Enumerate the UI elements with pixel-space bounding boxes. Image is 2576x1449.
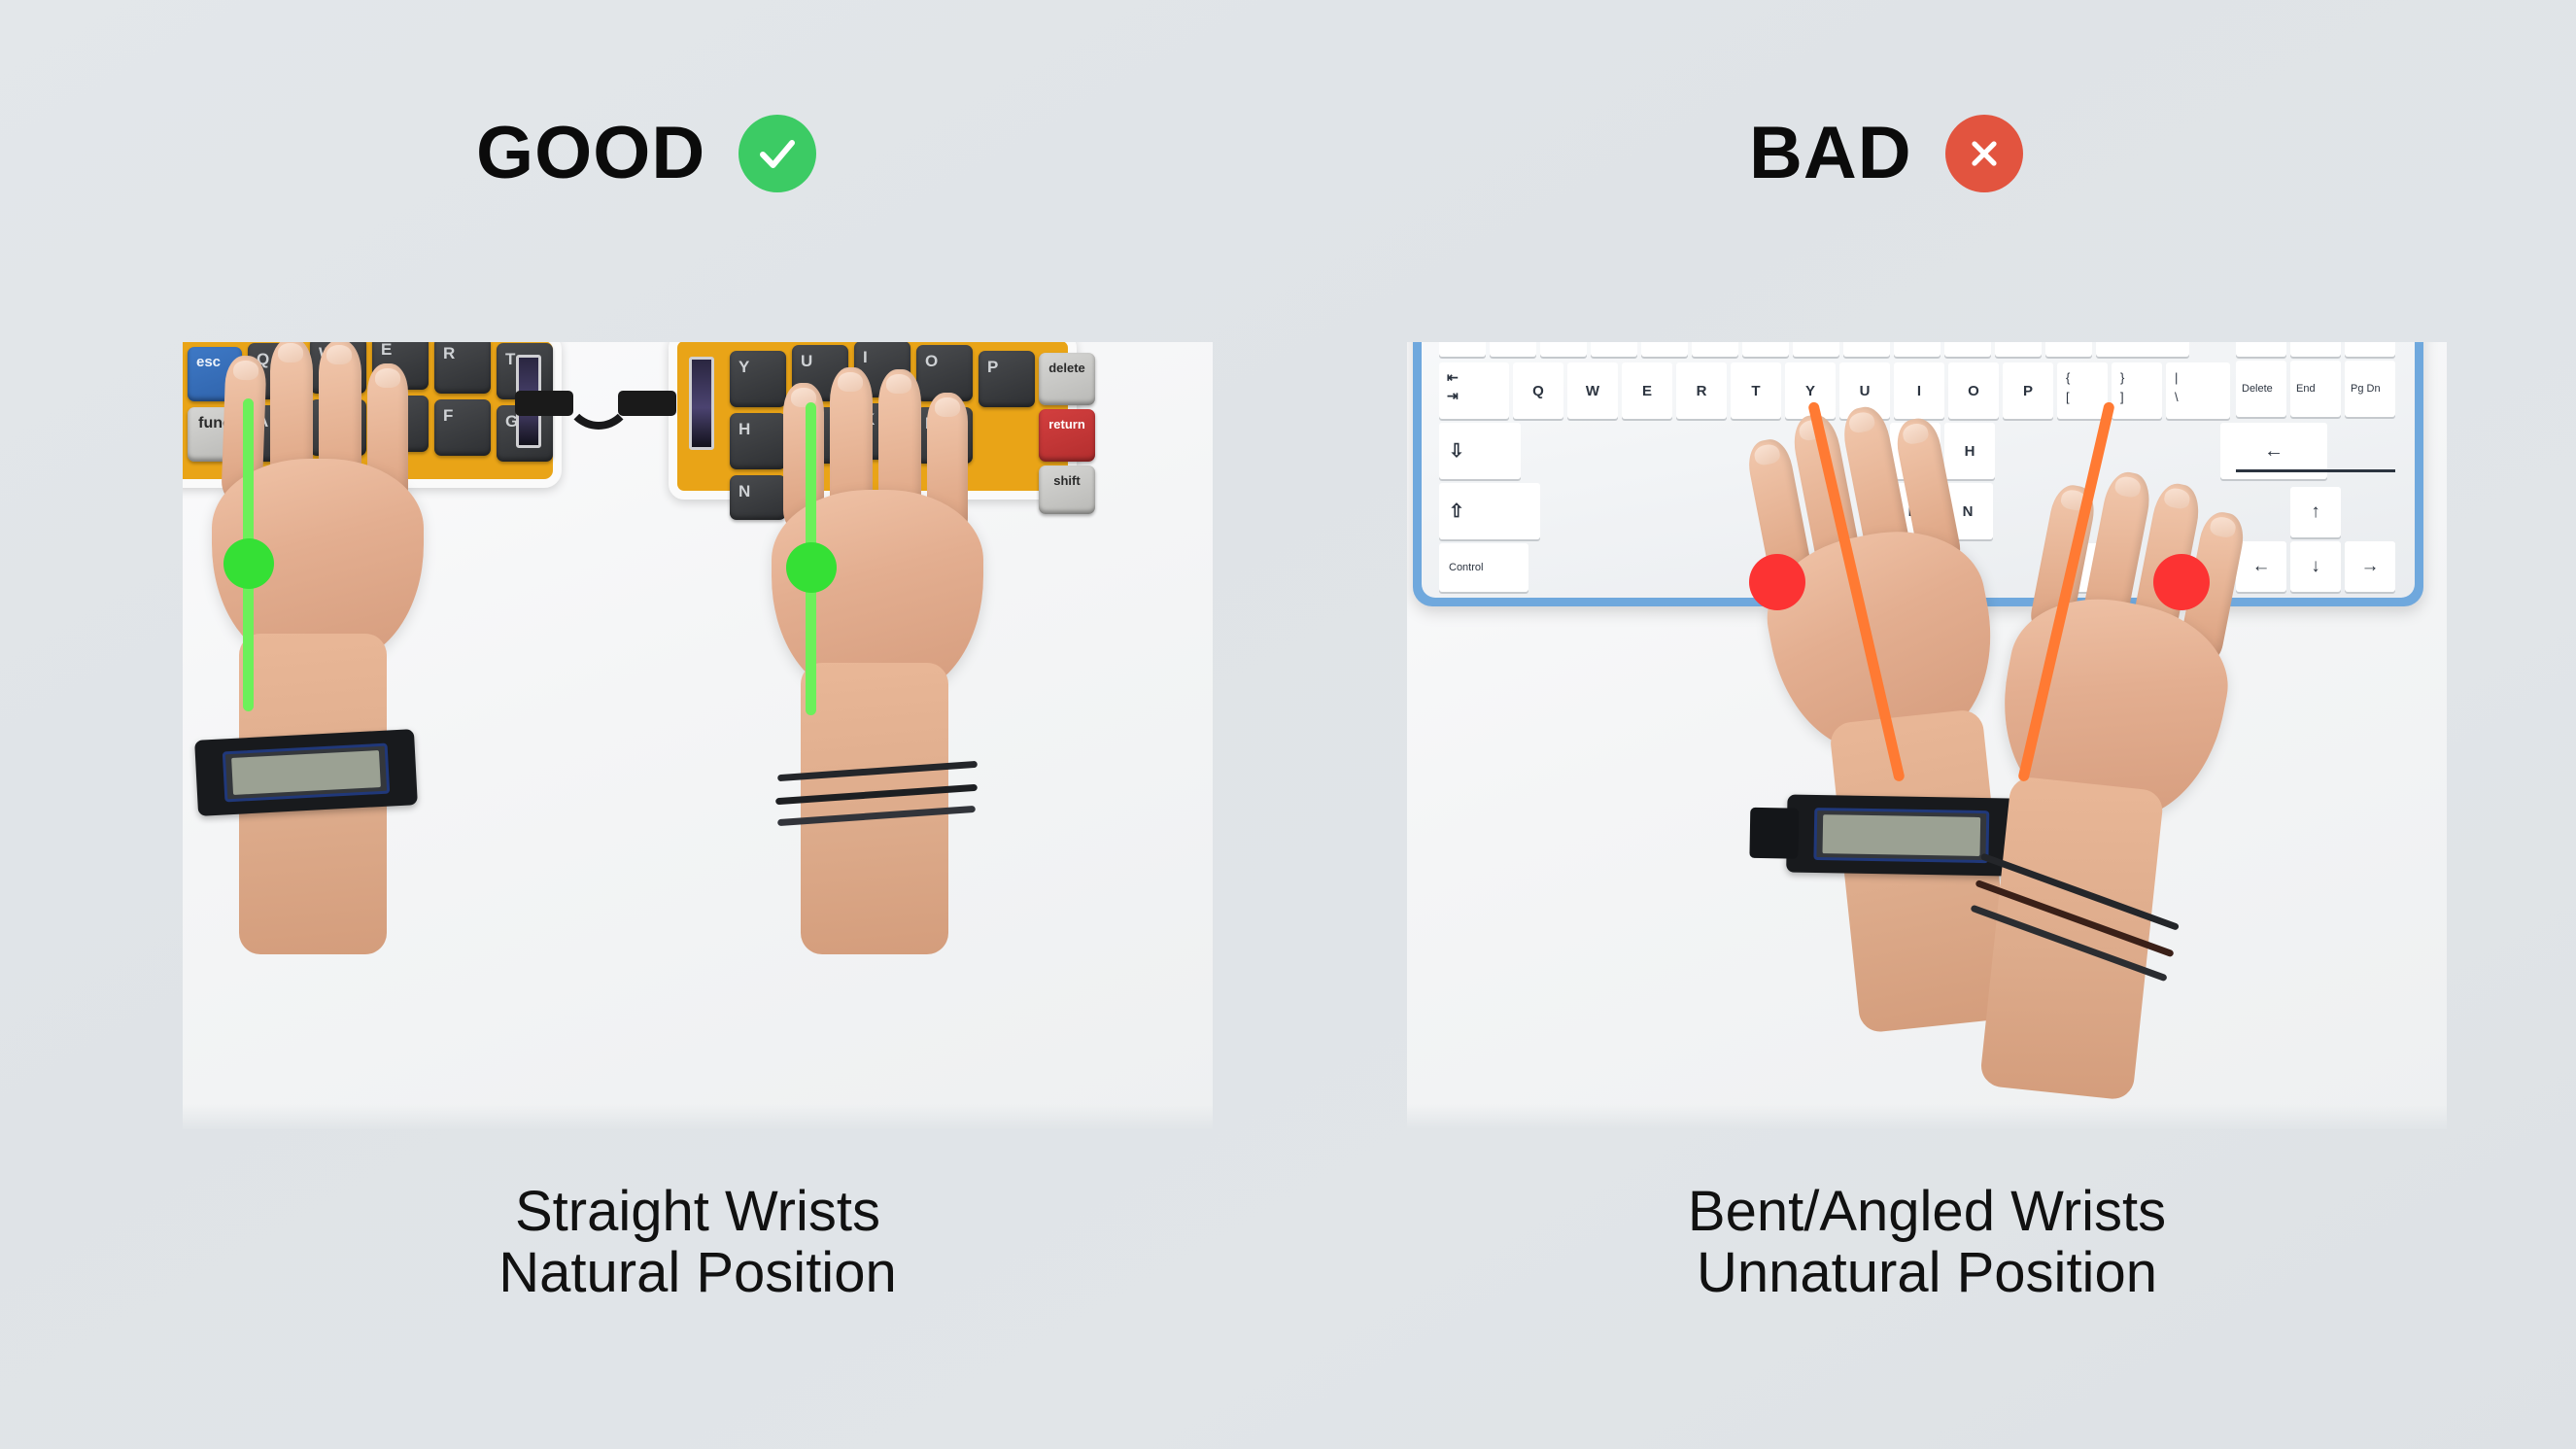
header-label-good: GOOD: [476, 117, 705, 190]
arrow-key-cluster: ↑ ← ↓ →: [2236, 487, 2395, 596]
watch-face: [1813, 808, 1989, 863]
split-keyboard-right-half: Y U I O P delete H J K L return N shift: [669, 342, 1077, 500]
key-h: H: [1944, 423, 1995, 479]
keycap-y: Y: [730, 351, 786, 407]
caption-good-line1: Straight Wrists: [183, 1181, 1213, 1242]
fingernail: [886, 374, 911, 394]
navigation-cluster: Insert Home Pg Up Delete End Pg Dn: [2236, 342, 2395, 417]
key-0: )0: [1944, 342, 1991, 357]
watch-strap: [1749, 808, 1799, 859]
caption-good: Straight Wrists Natural Position: [183, 1181, 1213, 1303]
key-arrow-left: ←: [2236, 541, 2286, 592]
keycap-delete: delete: [1039, 353, 1095, 405]
x-circle-icon: [1945, 115, 2023, 192]
caption-good-line2: Natural Position: [183, 1242, 1213, 1303]
keycap-p: P: [979, 351, 1035, 407]
fingernail: [2113, 475, 2142, 500]
interconnect-cable: [564, 385, 634, 430]
oled-display-right: [689, 357, 714, 450]
key-1: !1: [1490, 342, 1536, 357]
fingernail: [1753, 442, 1781, 466]
fingernail: [2209, 515, 2237, 539]
fingernail: [838, 372, 863, 392]
key-r: R: [1676, 362, 1727, 419]
key-minus: —-: [1995, 342, 2042, 357]
key-backspace: ←: [2096, 342, 2189, 357]
keycap-h: H: [730, 413, 786, 469]
key-4: $4: [1641, 342, 1688, 357]
fingernail: [2163, 486, 2191, 510]
key-bracket-left: {[: [2057, 362, 2108, 419]
key-bracket-right: }]: [2112, 362, 2162, 419]
key-control: Control: [1439, 543, 1528, 592]
key-arrow-right: →: [2345, 541, 2395, 592]
key-8: *8: [1843, 342, 1890, 357]
key-backtick: ~`: [1439, 342, 1486, 357]
wrist-marker-right-bad: [2153, 554, 2210, 610]
key-delete: Delete: [2236, 361, 2286, 417]
watch-face: [223, 743, 390, 803]
key-3: #3: [1591, 342, 1637, 357]
fingernail: [375, 368, 400, 388]
key-6: ^6: [1742, 342, 1789, 357]
key-t: T: [1731, 362, 1781, 419]
key-arrow-down: ↓: [2290, 541, 2341, 592]
key-insert: Insert: [2236, 342, 2286, 357]
fingernail: [935, 397, 960, 417]
caption-bad-line2: Unnatural Position: [1407, 1242, 2447, 1303]
key-i: I: [1894, 362, 1944, 419]
key-backslash: |\: [2166, 362, 2230, 419]
key-e: E: [1622, 362, 1672, 419]
key-tab: ⇤⇥: [1439, 362, 1509, 419]
key-2: @2: [1540, 342, 1587, 357]
key-q: Q: [1513, 362, 1563, 419]
key-pgdn: Pg Dn: [2345, 361, 2395, 417]
key-w: W: [1567, 362, 1618, 419]
keycap-n: N: [730, 475, 786, 520]
key-capslock: ⇩: [1439, 423, 1521, 479]
key-shift-left: ⇧: [1439, 483, 1540, 539]
check-circle-icon: [738, 115, 816, 192]
watch-lcd-display: [231, 750, 381, 795]
wrist-marker-right-good: [786, 542, 837, 593]
photo-good-posture: esc Q W E R T func A S D F G Y U I O P d…: [183, 342, 1213, 1129]
fingernail: [1847, 410, 1875, 434]
key-home: Home: [2290, 342, 2341, 357]
key-p: P: [2003, 362, 2053, 419]
fingernail: [233, 361, 259, 381]
keycap-shift: shift: [1039, 466, 1095, 514]
key-7: &7: [1793, 342, 1839, 357]
keycap-return: return: [1039, 409, 1095, 462]
keycap-r: R: [434, 342, 491, 394]
header-bad: BAD: [1749, 115, 2023, 192]
wrist-marker-left-bad: [1749, 554, 1805, 610]
watch-lcd-display: [1823, 814, 1981, 856]
photo-bad-posture: Esc F1 F2 F3 F4 F5 F6 F7 F8 F9 F10 F11: [1407, 342, 2447, 1129]
caption-bad: Bent/Angled Wrists Unnatural Position: [1407, 1181, 2447, 1303]
fingernail: [326, 345, 352, 364]
keycap-f: F: [434, 399, 491, 456]
key-equals: +=: [2045, 342, 2092, 357]
cluster-divider-line: [2236, 469, 2395, 472]
caption-bad-line1: Bent/Angled Wrists: [1407, 1181, 2447, 1242]
wristwatch-left: [1786, 795, 2016, 877]
fingernail: [278, 343, 303, 362]
wrist-marker-left-good: [223, 538, 274, 589]
key-end: End: [2290, 361, 2341, 417]
key-arrow-up: ↑: [2290, 487, 2341, 537]
key-9: (9: [1894, 342, 1941, 357]
number-row: ~` !1 @2 #3 $4 %5 ^6 &7 *8 (9 )0 —- += ←: [1439, 342, 2189, 357]
key-pgup: Pg Up: [2345, 342, 2395, 357]
wristwatch-left: [194, 729, 418, 816]
header-good: GOOD: [476, 115, 816, 192]
key-o: O: [1948, 362, 1999, 419]
header-label-bad: BAD: [1749, 117, 1912, 190]
key-5: %5: [1692, 342, 1738, 357]
fingernail: [1902, 422, 1930, 446]
